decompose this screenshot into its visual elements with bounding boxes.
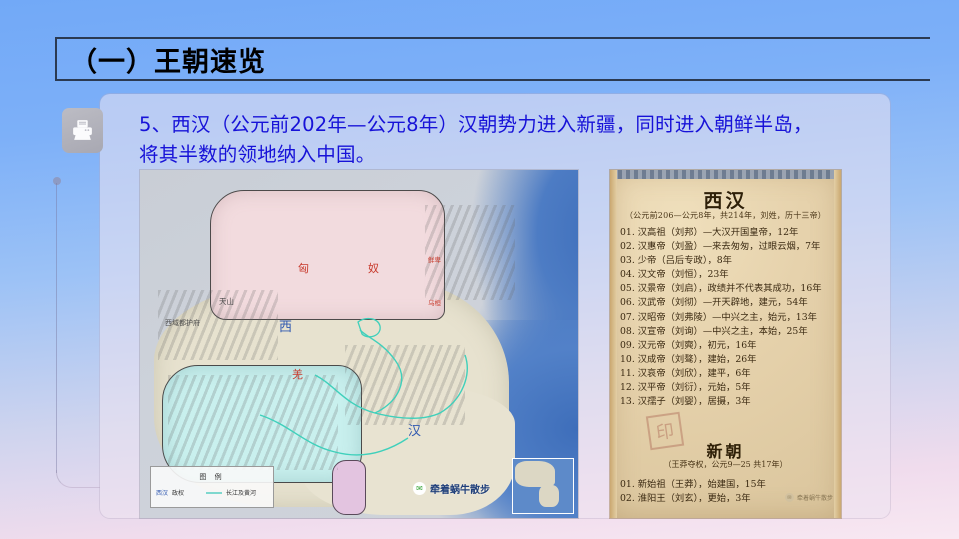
list-item: 11. 汉哀帝（刘欣），建平，6年 — [620, 367, 833, 381]
list-item: 06. 汉武帝（刘彻）—开天辟地，建元，54年 — [620, 296, 833, 310]
map-legend-row-1: 西汉 政权 长江及黄河 — [156, 488, 273, 497]
wechat-icon: ✉ — [413, 482, 426, 495]
list-item: 05. 汉景帝（刘启），政绩并不代表其成功，16年 — [620, 282, 833, 296]
list-item: 09. 汉元帝（刘奭），初元，16年 — [620, 339, 833, 353]
page-title: （一）王朝速览 — [70, 40, 266, 79]
list-item: 02. 汉惠帝（刘盈）—来去匆匆，过眼云烟，7年 — [620, 240, 833, 254]
list-item: 04. 汉文帝（刘恒），23年 — [620, 268, 833, 282]
map-label-tianshan: 天山 — [219, 296, 234, 307]
rail-dot — [53, 177, 61, 185]
rail-line — [56, 183, 57, 473]
map-label-wuhuan: 乌桓 — [428, 297, 441, 307]
scroll-title: 西汉 — [610, 186, 841, 213]
map-legend-title: 图 例 — [151, 472, 273, 482]
map-inset-landmass-1 — [515, 461, 555, 487]
list-item: 13. 汉孺子（刘婴），居摄，3年 — [620, 395, 833, 409]
map-label-qiang: 羌 — [292, 366, 303, 382]
list-item: 08. 汉宣帝（刘询）—中兴之主，本始，25年 — [620, 325, 833, 339]
map-legend-swatch-label: 西汉 — [156, 488, 168, 497]
map-label-xiongnu-2: 奴 — [368, 260, 379, 276]
dynasty-scroll-image: 西汉 （公元前206—公元8年，共214年，刘姓，历十三帝） 印 01. 汉高祖… — [610, 170, 841, 518]
map-inset-landmass-2 — [539, 485, 559, 507]
map-watermark-text: 牵着蜗牛散步 — [430, 481, 490, 496]
map-label-han: 汉 — [408, 420, 421, 439]
list-item: 01. 新始祖（王莽），始建国，15年 — [620, 478, 833, 492]
scroll-emperor-list: 01. 汉高祖（刘邦）—大汉开国皇帝，12年 02. 汉惠帝（刘盈）—来去匆匆，… — [620, 226, 833, 409]
scroll-subtitle: （公元前206—公元8年，共214年，刘姓，历十三帝） — [610, 210, 841, 221]
map-legend-label-2: 长江及黄河 — [226, 488, 256, 497]
historical-map-image: 匈 奴 鲜卑 乌桓 天山 西域都护府 西 羌 汉 图 例 西汉 政权 长江及黄河… — [140, 170, 578, 518]
list-item: 12. 汉平帝（刘衍），元始，5年 — [620, 381, 833, 395]
list-item: 10. 汉成帝（刘骜），建始，26年 — [620, 353, 833, 367]
scroll-top-band — [610, 170, 841, 179]
map-label-xianbei: 鲜卑 — [428, 254, 441, 264]
scroll-watermark-text: 牵着蜗牛散步 — [797, 493, 833, 502]
scroll-watermark: ✉ 牵着蜗牛散步 — [785, 493, 833, 502]
map-watermark: ✉ 牵着蜗牛散步 — [413, 481, 490, 496]
map-label-xiongnu-1: 匈 — [298, 260, 309, 276]
map-legend-line-swatch — [206, 492, 222, 494]
list-item: 07. 汉昭帝（刘弗陵）—中兴之主，始元，13年 — [620, 311, 833, 325]
list-item: 01. 汉高祖（刘邦）—大汉开国皇帝，12年 — [620, 226, 833, 240]
map-legend-label-1: 政权 — [172, 488, 184, 497]
map-legend: 图 例 西汉 政权 长江及黄河 — [150, 466, 274, 508]
list-item: 03. 少帝（吕后专政），8年 — [620, 254, 833, 268]
body-paragraph: 5、西汉（公元前202年—公元8年）汉朝势力进入新疆，同时进入朝鲜半岛，将其半数… — [139, 110, 819, 170]
map-inset-south-sea — [512, 458, 574, 514]
wechat-icon: ✉ — [785, 493, 794, 502]
scroll-section-xin-dynasty: 新朝 （王莽夺权，公元9—25 共17年） 01. 新始祖（王莽），始建国，15… — [610, 438, 841, 518]
map-label-xi: 西 — [279, 316, 292, 335]
rail-curve — [56, 470, 100, 488]
map-label-xiyu-duhufu: 西域都护府 — [165, 318, 200, 328]
printer-icon — [62, 108, 103, 153]
scroll-section2-subtitle: （王莽夺权，公元9—25 共17年） — [610, 459, 841, 470]
